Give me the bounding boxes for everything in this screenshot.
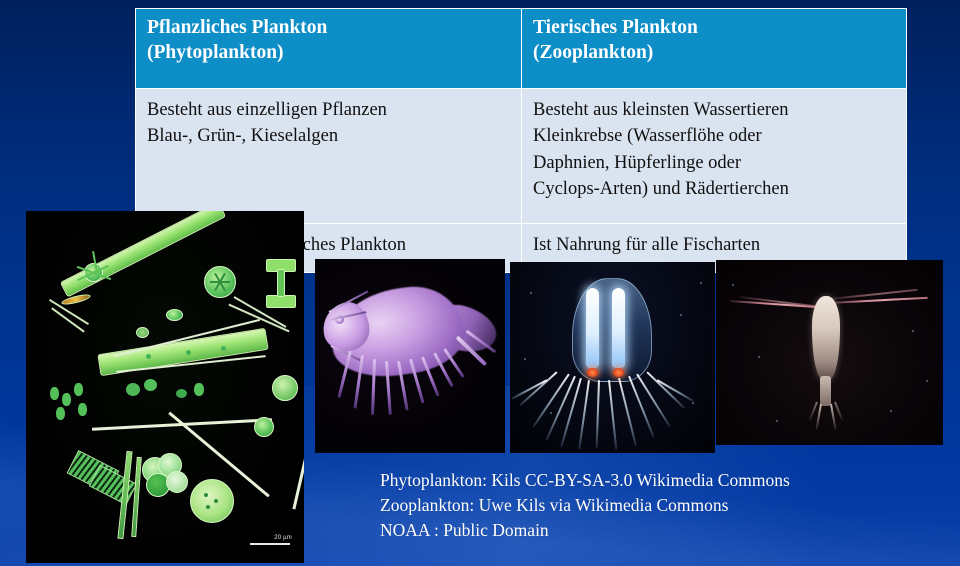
cell-line: Ist Nahrung für alle Fischarten [533, 232, 895, 258]
scale-bar [250, 543, 290, 545]
table-header-zooplankton: Tierisches Plankton (Zooplankton) [522, 9, 907, 89]
phytoplankton-photo: 20 µm [26, 211, 304, 563]
cell-line: Besteht aus kleinsten Wassertieren [533, 97, 895, 123]
header-zoo-line2: (Zooplankton) [533, 41, 895, 66]
table-row: Besteht aus einzelligen Pflanzen Blau-, … [136, 89, 907, 224]
scale-bar-label: 20 µm [274, 535, 292, 541]
header-phyto-line1: Pflanzliches Plankton [147, 16, 510, 41]
table-header-phytoplankton: Pflanzliches Plankton (Phytoplankton) [136, 9, 522, 89]
credit-line-noaa: NOAA : Public Domain [380, 518, 790, 543]
header-phyto-line2: (Phytoplankton) [147, 41, 510, 66]
header-zoo-line1: Tierisches Plankton [533, 16, 895, 41]
jellyfish-orange-spot-right [613, 368, 624, 377]
jellyfish-orange-spot-left [587, 368, 598, 377]
cell-zoo-description: Besteht aus kleinsten Wassertieren Klein… [522, 89, 907, 224]
cell-line: Daphnien, Hüpferlinge oder [533, 150, 895, 176]
jellyfish-photo [510, 262, 715, 453]
cell-phyto-description: Besteht aus einzelligen Pflanzen Blau-, … [136, 89, 522, 224]
cell-line: Blau-, Grün-, Kieselalgen [147, 123, 510, 149]
jellyfish-gonad-right [612, 288, 625, 368]
amphipod-photo [315, 259, 505, 453]
cell-line: Kleinkrebse (Wasserflöhe oder [533, 123, 895, 149]
credit-line-phytoplankton: Phytoplankton: Kils CC-BY-SA-3.0 Wikimed… [380, 468, 790, 493]
cell-line: Besteht aus einzelligen Pflanzen [147, 97, 510, 123]
copepod-body [812, 296, 840, 380]
credit-line-zooplankton: Zooplankton: Uwe Kils via Wikimedia Comm… [380, 493, 790, 518]
copepod-photo [716, 260, 943, 445]
slide-canvas: Pflanzliches Plankton (Phytoplankton) Ti… [0, 0, 960, 566]
jellyfish-gonad-left [586, 288, 599, 368]
image-credits-caption: Phytoplankton: Kils CC-BY-SA-3.0 Wikimed… [380, 468, 790, 543]
copepod-urosome [820, 376, 831, 406]
cell-line: Cyclops-Arten) und Rädertierchen [533, 176, 895, 202]
table-header-row: Pflanzliches Plankton (Phytoplankton) Ti… [136, 9, 907, 89]
